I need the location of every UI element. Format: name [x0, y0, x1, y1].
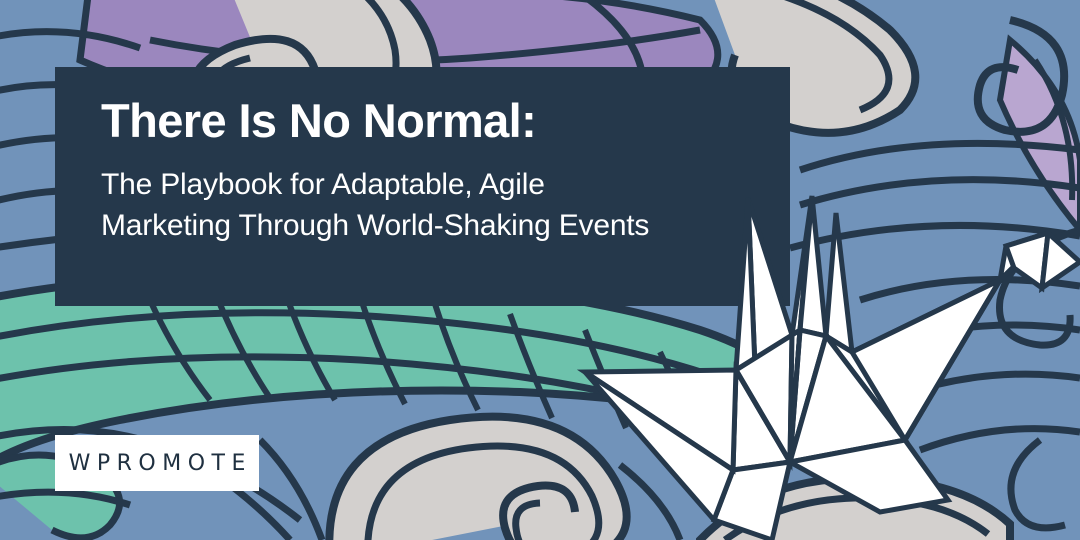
logo-wordmark: WPROMOTE: [62, 451, 252, 476]
subtitle-line-1: The Playbook for Adaptable, Agile: [101, 164, 744, 205]
subtitle-block: The Playbook for Adaptable, Agile Market…: [101, 164, 744, 247]
wpromote-logo[interactable]: WPROMOTE: [55, 435, 259, 491]
title-panel: There Is No Normal: The Playbook for Ada…: [55, 67, 790, 306]
subtitle-line-2: Marketing Through World-Shaking Events: [101, 205, 744, 246]
promo-banner: There Is No Normal: The Playbook for Ada…: [0, 0, 1080, 540]
page-title: There Is No Normal:: [101, 95, 744, 148]
